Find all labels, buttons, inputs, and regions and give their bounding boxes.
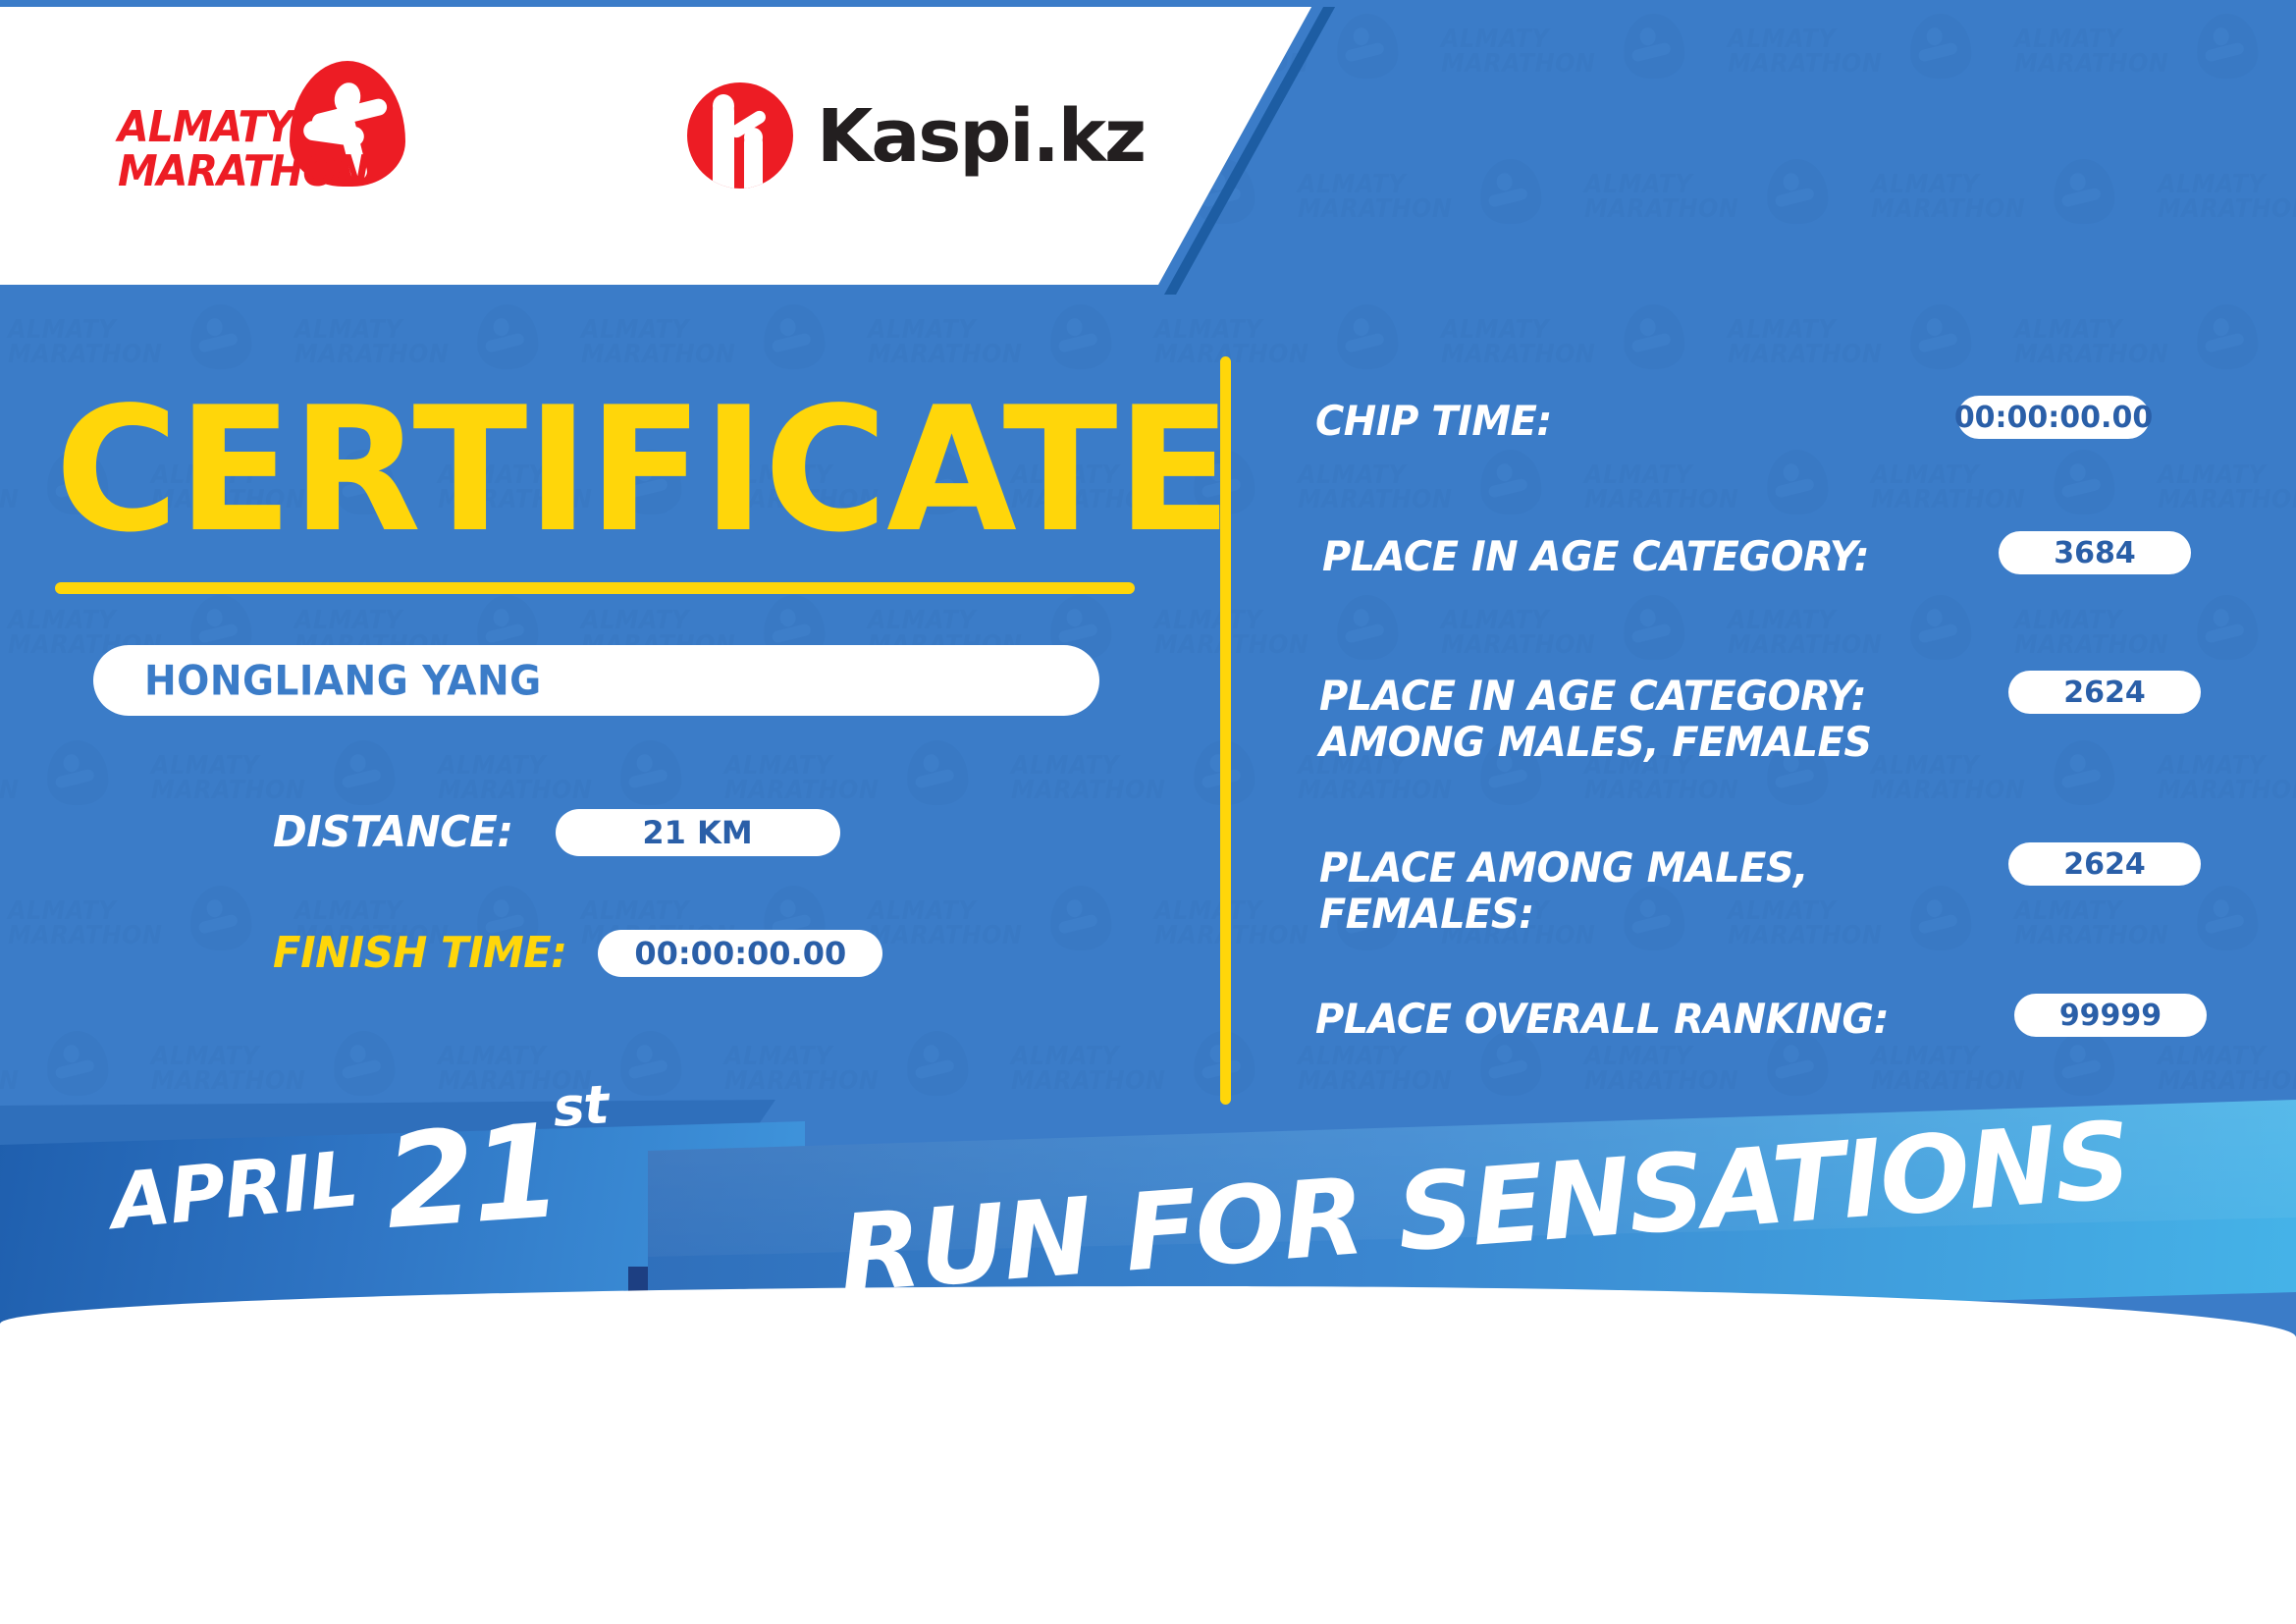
stat-pill-place-age-category: 3684 <box>1999 531 2191 574</box>
top-blue-bar <box>0 0 2296 7</box>
watermark-tile: ALMATYMARATHON <box>860 872 1147 1017</box>
watermark-tile: ALMATYMARATHON <box>1433 0 1720 145</box>
sponsor-strip: Sulpak SANOFI Empowering Life ORIFLAME S… <box>0 1394 2296 1624</box>
stat-label-distance: DISTANCE: <box>273 807 513 857</box>
stat-pill-finish-time: 00:00:00.00 <box>598 930 882 977</box>
kaspi-wordmark: Kaspi.kz <box>817 94 1145 179</box>
stat-label-line1: PLACE IN AGE CATEGORY: <box>1319 673 1872 719</box>
page-title: CERTIFICATE <box>55 385 1231 557</box>
kaspi-logo: Kaspi.kz <box>687 77 1099 194</box>
participant-name-field: HONGLIANG YANG <box>93 645 1099 716</box>
watermark-tile: ALMATYMARATHON <box>2006 0 2293 145</box>
watermark-tile: ALMATYMARATHON <box>1720 0 2006 145</box>
column-divider <box>1220 356 1231 1105</box>
stat-pill-place-overall: 99999 <box>2014 994 2207 1037</box>
stat-row-place-overall: PLACE OVERALL RANKING: 99999 <box>1315 996 2228 1064</box>
stat-value-place-overall: 99999 <box>2059 999 2162 1033</box>
brand-line-almaty: ALMATY <box>118 106 368 150</box>
stat-pill-place-among-gender: 2624 <box>2008 842 2201 886</box>
stat-label-line1: PLACE AMONG MALES, <box>1319 844 1808 891</box>
watermark-tile: ALMATYMARATHON <box>1003 727 1290 872</box>
stat-label-line2: AMONG MALES, FEMALES <box>1319 719 1872 765</box>
stat-label-line2: FEMALES: <box>1319 891 1808 937</box>
stat-label-place-among-gender: PLACE AMONG MALES, FEMALES: <box>1319 844 1808 938</box>
stat-value-distance: 21 KM <box>642 814 752 851</box>
event-day-number: 21 <box>380 1096 562 1259</box>
title-underline <box>55 582 1135 594</box>
certificate-page: ALMATYMARATHONALMATYMARATHONALMATYMARATH… <box>0 0 2296 1624</box>
stat-pill-distance: 21 KM <box>556 809 840 856</box>
almaty-marathon-wordmark: ALMATY MARATHON <box>118 106 368 194</box>
stat-row-finish-time: FINISH TIME: 00:00:00.00 <box>273 928 882 978</box>
stat-row-place-age-category: PLACE IN AGE CATEGORY: 3684 <box>1315 533 2228 602</box>
stat-label-place-age-category: PLACE IN AGE CATEGORY: <box>1322 533 1869 579</box>
stat-pill-chip-time: 00:00:00.00 <box>1957 396 2150 439</box>
stat-label-place-age-category-gender: PLACE IN AGE CATEGORY: AMONG MALES, FEMA… <box>1319 673 1872 766</box>
event-day: 21st <box>380 1092 617 1259</box>
stat-row-place-among-gender: PLACE AMONG MALES, FEMALES: 2624 <box>1315 844 2228 972</box>
stat-value-place-among-gender: 2624 <box>2063 847 2146 882</box>
stat-row-distance: DISTANCE: 21 KM <box>273 807 840 857</box>
stat-row-place-age-category-gender: PLACE IN AGE CATEGORY: AMONG MALES, FEMA… <box>1315 673 2228 800</box>
participant-name-value: HONGLIANG YANG <box>144 657 542 705</box>
watermark-tile: ALMATYMARATHON <box>2150 145 2296 291</box>
stat-label-chip-time: CHIP TIME: <box>1315 398 1552 444</box>
event-day-suffix: st <box>551 1073 610 1139</box>
stat-value-finish-time: 00:00:00.00 <box>634 935 846 972</box>
stat-value-place-age-category: 3684 <box>2054 536 2136 570</box>
watermark-tile: ALMATYMARATHON <box>1863 145 2150 291</box>
brand-line-marathon: MARATHON <box>118 150 368 194</box>
stat-row-chip-time: CHIP TIME: 00:00:00.00 <box>1315 398 2228 466</box>
stat-label-place-overall: PLACE OVERALL RANKING: <box>1315 996 1889 1042</box>
almaty-marathon-logo: ALMATY MARATHON <box>118 61 442 208</box>
watermark-tile: ALMATYMARATHON <box>1576 145 1863 291</box>
watermark-tile: ALMATYMARATHON <box>1290 145 1576 291</box>
watermark-tile: ALMATYMARATHON <box>0 872 287 1017</box>
stat-value-chip-time: 00:00:00.00 <box>1954 401 2153 435</box>
stat-pill-place-age-category-gender: 2624 <box>2008 671 2201 714</box>
stat-value-place-age-category-gender: 2624 <box>2063 676 2146 710</box>
stat-label-finish-time: FINISH TIME: <box>273 928 567 978</box>
kaspi-people-icon <box>687 82 793 189</box>
watermark-tile: ALMATYMARATHON <box>0 727 143 872</box>
